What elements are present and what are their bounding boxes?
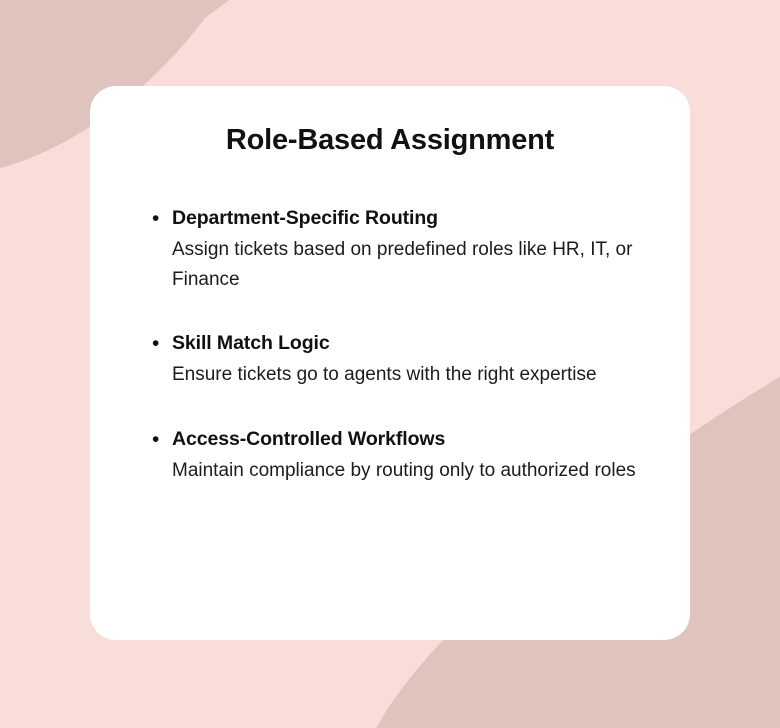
list-item-title: Access-Controlled Workflows xyxy=(172,426,652,453)
bullet-dot-icon: • xyxy=(152,205,172,232)
slide-canvas: Role-Based Assignment • Department-Speci… xyxy=(0,0,780,728)
list-item-description: Maintain compliance by routing only to a… xyxy=(152,456,642,486)
page-title: Role-Based Assignment xyxy=(90,124,690,157)
list-item: • Access-Controlled Workflows Maintain c… xyxy=(152,426,652,486)
content-card: Role-Based Assignment • Department-Speci… xyxy=(90,86,690,640)
list-item-heading: • Access-Controlled Workflows xyxy=(152,426,652,453)
list-item-heading: • Skill Match Logic xyxy=(152,330,652,357)
list-item-title: Department-Specific Routing xyxy=(172,205,652,232)
bullet-list: • Department-Specific Routing Assign tic… xyxy=(152,205,652,485)
list-item-title: Skill Match Logic xyxy=(172,330,652,357)
list-item: • Skill Match Logic Ensure tickets go to… xyxy=(152,330,652,390)
list-item-description: Assign tickets based on predefined roles… xyxy=(152,235,642,294)
list-item-heading: • Department-Specific Routing xyxy=(152,205,652,232)
list-item: • Department-Specific Routing Assign tic… xyxy=(152,205,652,294)
list-item-description: Ensure tickets go to agents with the rig… xyxy=(152,360,642,390)
bullet-dot-icon: • xyxy=(152,330,172,357)
bullet-dot-icon: • xyxy=(152,426,172,453)
